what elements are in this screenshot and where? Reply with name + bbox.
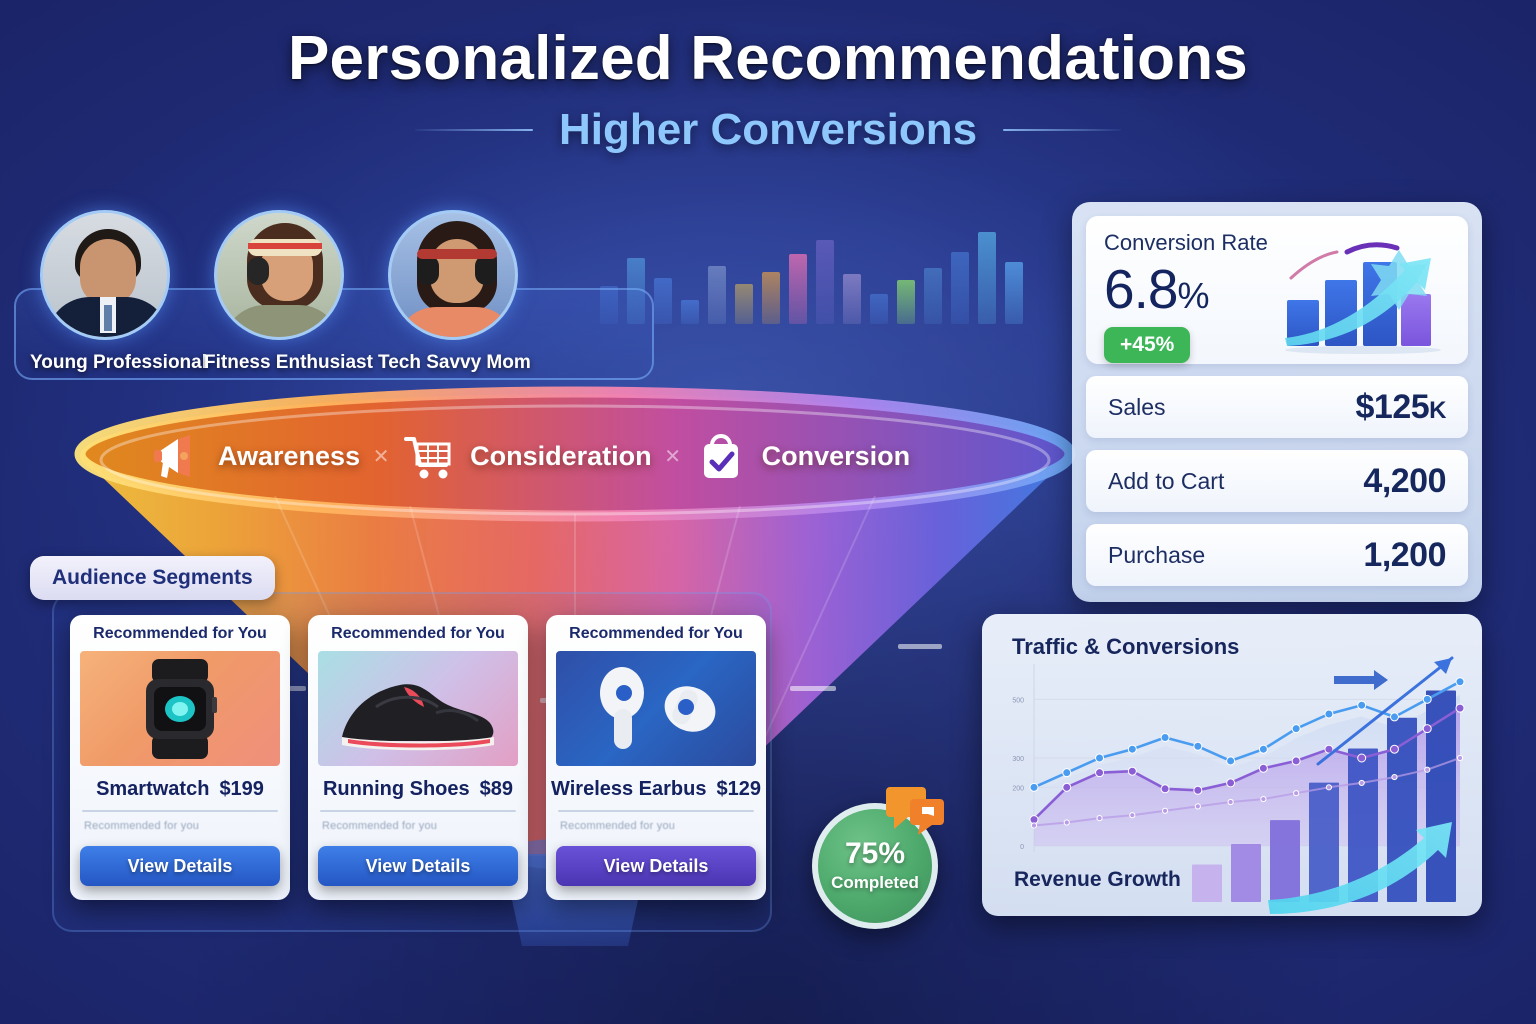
data-point [1292,757,1300,765]
wireless-earbuds-image [556,651,756,766]
funnel-stage-consideration[interactable]: Consideration [402,431,652,481]
kpi-row-sales[interactable]: Sales $125K [1086,376,1468,438]
megaphone-icon [150,431,204,481]
smartwatch-image [80,651,280,766]
product-card-list: Recommended for You Smartwatch $199 Reco… [70,615,766,900]
data-point [1456,678,1464,686]
shopping-bag-check-icon [694,431,748,481]
persona-label: Tech Savvy Mom [378,352,528,374]
decorative-bar [762,272,780,324]
progress-percent: 75% [845,839,905,869]
data-point [1358,754,1366,762]
decorative-bar [924,268,942,324]
data-point [1194,786,1202,794]
decorative-bar [870,294,888,324]
kpi-row-value: 4,200 [1363,462,1446,501]
audience-persona-list: Young Professional Fitness Enthusiast Te… [30,210,528,374]
kpi-row-value: 1,200 [1363,536,1446,575]
data-point [1161,785,1169,793]
data-point [1359,780,1364,785]
data-point [1423,695,1431,703]
data-point [1392,774,1397,779]
product-card-wireless-earbuds[interactable]: Recommended for You Wireless Earbus $129… [546,615,766,900]
decorative-bar-visualization [600,212,1060,324]
stage-separator-2: ✕ [652,444,694,469]
y-axis-tick: 200 [1012,785,1024,792]
kpi-row-suffix: K [1429,397,1446,424]
data-point [1195,804,1200,809]
progress-badge: 75% Completed [812,803,938,929]
view-details-button[interactable]: View Details [556,846,756,886]
product-name: Smartwatch [96,778,209,801]
avatar-young-professional [40,210,170,340]
kpi-row-purchase[interactable]: Purchase 1,200 [1086,524,1468,586]
subtitle-rule-left [415,129,533,131]
kpi-row-label: Add to Cart [1108,468,1224,495]
funnel-stage-conversion[interactable]: Conversion [694,431,911,481]
data-point [1259,745,1267,753]
running-shoes-image [318,651,518,766]
view-details-button[interactable]: View Details [318,846,518,886]
trend-arrow-annotation [1334,670,1388,690]
avatar-tech-savvy-mom [388,210,518,340]
data-point [1456,704,1464,712]
product-name: Running Shoes [323,778,470,801]
audience-segments-badge: Audience Segments [30,556,275,600]
traffic-conversions-chart-panel: Traffic & Conversions 0200300500 Revenue… [982,614,1482,916]
decorative-bar [843,274,861,324]
kpi-row-number: 1,200 [1363,536,1446,574]
data-point [1228,799,1233,804]
growth-bars-arrow-icon [1273,234,1458,354]
product-subtext: Recommended for you [318,820,518,832]
data-point [1292,725,1300,733]
kpi-row-label: Purchase [1108,542,1205,569]
data-point [1194,742,1202,750]
data-point [1162,808,1167,813]
avatar-fitness-enthusiast [214,210,344,340]
product-title-row: Wireless Earbus $129 [556,778,756,801]
data-point [1326,785,1331,790]
chart-footer-label: Revenue Growth [1014,868,1181,892]
product-card-smartwatch[interactable]: Recommended for You Smartwatch $199 Reco… [70,615,290,900]
persona-label: Young Professional [30,352,180,374]
progress-label: Completed [831,873,919,893]
data-point [1097,816,1102,821]
product-card-tag: Recommended for You [318,625,518,643]
product-price: $199 [219,778,264,801]
decorative-bar [735,284,753,324]
y-axis-tick: 300 [1012,756,1024,763]
product-price: $89 [480,778,513,801]
shopping-cart-icon [402,431,456,481]
product-divider [320,810,516,812]
subtitle-rule-right [1003,129,1121,131]
data-point [1063,769,1071,777]
bar [1426,690,1456,902]
data-point [1063,783,1071,791]
y-axis-tick: 500 [1012,697,1024,704]
header: Personalized Recommendations Higher Conv… [0,26,1536,155]
product-card-running-shoes[interactable]: Recommended for You Running Shoes $89 Re… [308,615,528,900]
data-point [1423,725,1431,733]
data-point [1390,745,1398,753]
data-point [1390,713,1398,721]
data-point [1259,764,1267,772]
data-point [1096,754,1104,762]
view-details-button[interactable]: View Details [80,846,280,886]
product-title-row: Smartwatch $199 [80,778,280,801]
product-divider [82,810,278,812]
funnel-stage-awareness[interactable]: Awareness [150,431,360,481]
kpi-row-number: $125 [1356,388,1430,426]
data-point [1096,769,1104,777]
decorative-bar [897,280,915,324]
funnel-stage-label: Awareness [218,441,360,472]
data-point [1261,796,1266,801]
y-axis-tick: 0 [1020,844,1024,851]
kpi-conversion-rate-card[interactable]: Conversion Rate 6.8% +45% [1086,216,1468,364]
decorative-bar [1005,262,1023,324]
data-point [1128,745,1136,753]
kpi-hero-unit: % [1177,275,1208,316]
decorative-bar [816,240,834,324]
data-point [1294,791,1299,796]
subtitle-row: Higher Conversions [0,105,1536,155]
funnel-stage-label: Consideration [470,441,652,472]
data-point [1227,779,1235,787]
kpi-row-value: $125K [1356,388,1446,427]
data-point [1161,733,1169,741]
product-subtext: Recommended for you [80,820,280,832]
decorative-bar [654,278,672,324]
data-point [1031,823,1036,828]
data-point [1130,813,1135,818]
data-point [1227,757,1235,765]
decorative-bar [978,232,996,324]
decorative-bar [951,252,969,324]
page-subtitle: Higher Conversions [559,105,977,155]
data-point [1425,767,1430,772]
product-name: Wireless Earbus [551,778,706,801]
kpi-row-add-to-cart[interactable]: Add to Cart 4,200 [1086,450,1468,512]
decorative-bar [708,266,726,324]
chart-title: Traffic & Conversions [1012,634,1239,660]
kpi-change-badge: +45% [1104,327,1190,363]
data-point [1128,767,1136,775]
product-subtext: Recommended for you [556,820,756,832]
persona-label: Fitness Enthusiast [204,352,354,374]
data-point [1457,755,1462,760]
data-point [1325,710,1333,718]
page-title: Personalized Recommendations [0,26,1536,91]
bar [1270,820,1300,902]
bar [1231,844,1261,902]
kpi-row-number: 4,200 [1363,462,1446,500]
product-price: $129 [716,778,761,801]
persona-young-professional[interactable]: Young Professional [30,210,180,374]
decorative-bar [789,254,807,324]
data-point [1358,701,1366,709]
data-point [1064,820,1069,825]
bar [1309,783,1339,902]
chat-notification-icon [884,785,948,839]
kpi-row-label: Sales [1108,394,1166,421]
decorative-bar [681,300,699,324]
persona-fitness-enthusiast[interactable]: Fitness Enthusiast [204,210,354,374]
stage-separator-1: ✕ [360,444,402,469]
product-card-tag: Recommended for You [556,625,756,643]
kpi-panel: Conversion Rate 6.8% +45% [1072,202,1482,602]
product-card-tag: Recommended for You [80,625,280,643]
infographic-canvas: Personalized Recommendations Higher Conv… [0,0,1536,1024]
bar [1192,864,1222,902]
kpi-hero-number: 6.8 [1104,258,1177,320]
product-divider [558,810,754,812]
data-point [1030,783,1038,791]
funnel-stage-row: Awareness ✕ Consideration ✕ [150,425,1070,487]
product-title-row: Running Shoes $89 [318,778,518,801]
funnel-stage-label: Conversion [762,441,911,472]
persona-tech-savvy-mom[interactable]: Tech Savvy Mom [378,210,528,374]
